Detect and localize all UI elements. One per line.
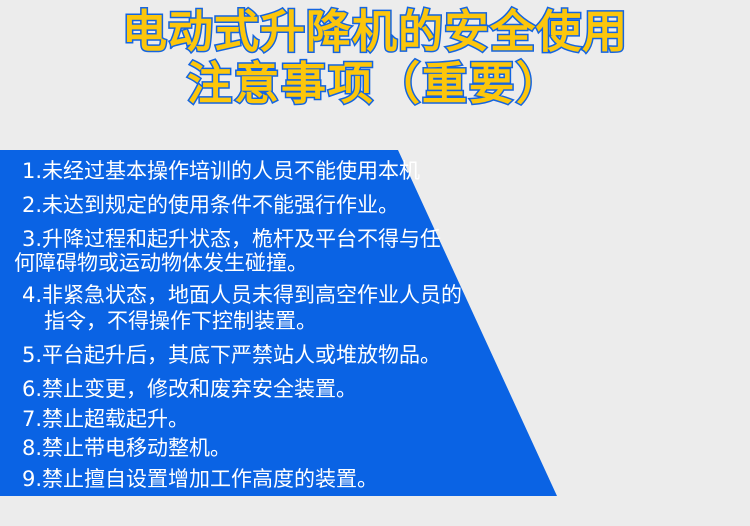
rule-number-6: 6.	[22, 377, 42, 401]
rule-number-4: 4.	[22, 283, 42, 307]
rule-number-2: 2.	[22, 193, 42, 217]
rule-item-1: 1.未经过基本操作培训的人员不能使用本机	[22, 158, 420, 184]
rule-item-7: 7.禁止超载起升。	[22, 406, 189, 432]
rule-number-5: 5.	[22, 343, 42, 367]
safety-rules-list: 1.未经过基本操作培训的人员不能使用本机 2.未达到规定的使用条件不能强行作业。…	[0, 150, 470, 498]
rule-text-5: 平台起升后，其底下严禁站人或堆放物品。	[42, 343, 441, 367]
rule-text-3-continuation: 何障碍物或运动物体发生碰撞。	[14, 250, 308, 276]
rule-number-8: 8.	[22, 436, 42, 460]
rule-item-3: 3.升降过程和起升状态，桅杆及平台不得与任	[22, 226, 441, 252]
rule-item-4: 4.非紧急状态，地面人员未得到高空作业人员的	[22, 282, 462, 308]
rule-text-2: 未达到规定的使用条件不能强行作业。	[42, 193, 399, 217]
title-line-1: 电动式升降机的安全使用	[0, 6, 750, 58]
safety-poster: 电动式升降机的安全使用 注意事项（重要） 1.未经过基本操作培训的人员不能使用本…	[0, 0, 750, 526]
rule-item-8: 8.禁止带电移动整机。	[22, 435, 231, 461]
title-line-2: 注意事项（重要）	[0, 58, 750, 110]
rule-item-5: 5.平台起升后，其底下严禁站人或堆放物品。	[22, 342, 441, 368]
rule-text-1: 未经过基本操作培训的人员不能使用本机	[42, 159, 420, 183]
rule-number-1: 1.	[22, 159, 42, 183]
rule-text-4-continuation: 指令，不得操作下控制装置。	[44, 308, 317, 334]
rule-text-6: 禁止变更，修改和废弃安全装置。	[42, 377, 357, 401]
rule-number-3: 3.	[22, 227, 42, 251]
rule-text-8: 禁止带电移动整机。	[42, 436, 231, 460]
rule-item-6: 6.禁止变更，修改和废弃安全装置。	[22, 376, 357, 402]
rule-item-2: 2.未达到规定的使用条件不能强行作业。	[22, 192, 399, 218]
rule-text-3: 升降过程和起升状态，桅杆及平台不得与任	[42, 227, 441, 251]
rule-text-9: 禁止擅自设置增加工作高度的装置。	[42, 467, 378, 491]
rule-item-9: 9.禁止擅自设置增加工作高度的装置。	[22, 466, 378, 492]
rule-text-4: 非紧急状态，地面人员未得到高空作业人员的	[42, 283, 462, 307]
rule-number-7: 7.	[22, 407, 42, 431]
poster-title: 电动式升降机的安全使用 注意事项（重要）	[0, 6, 750, 110]
rule-number-9: 9.	[22, 467, 42, 491]
rule-text-7: 禁止超载起升。	[42, 407, 189, 431]
